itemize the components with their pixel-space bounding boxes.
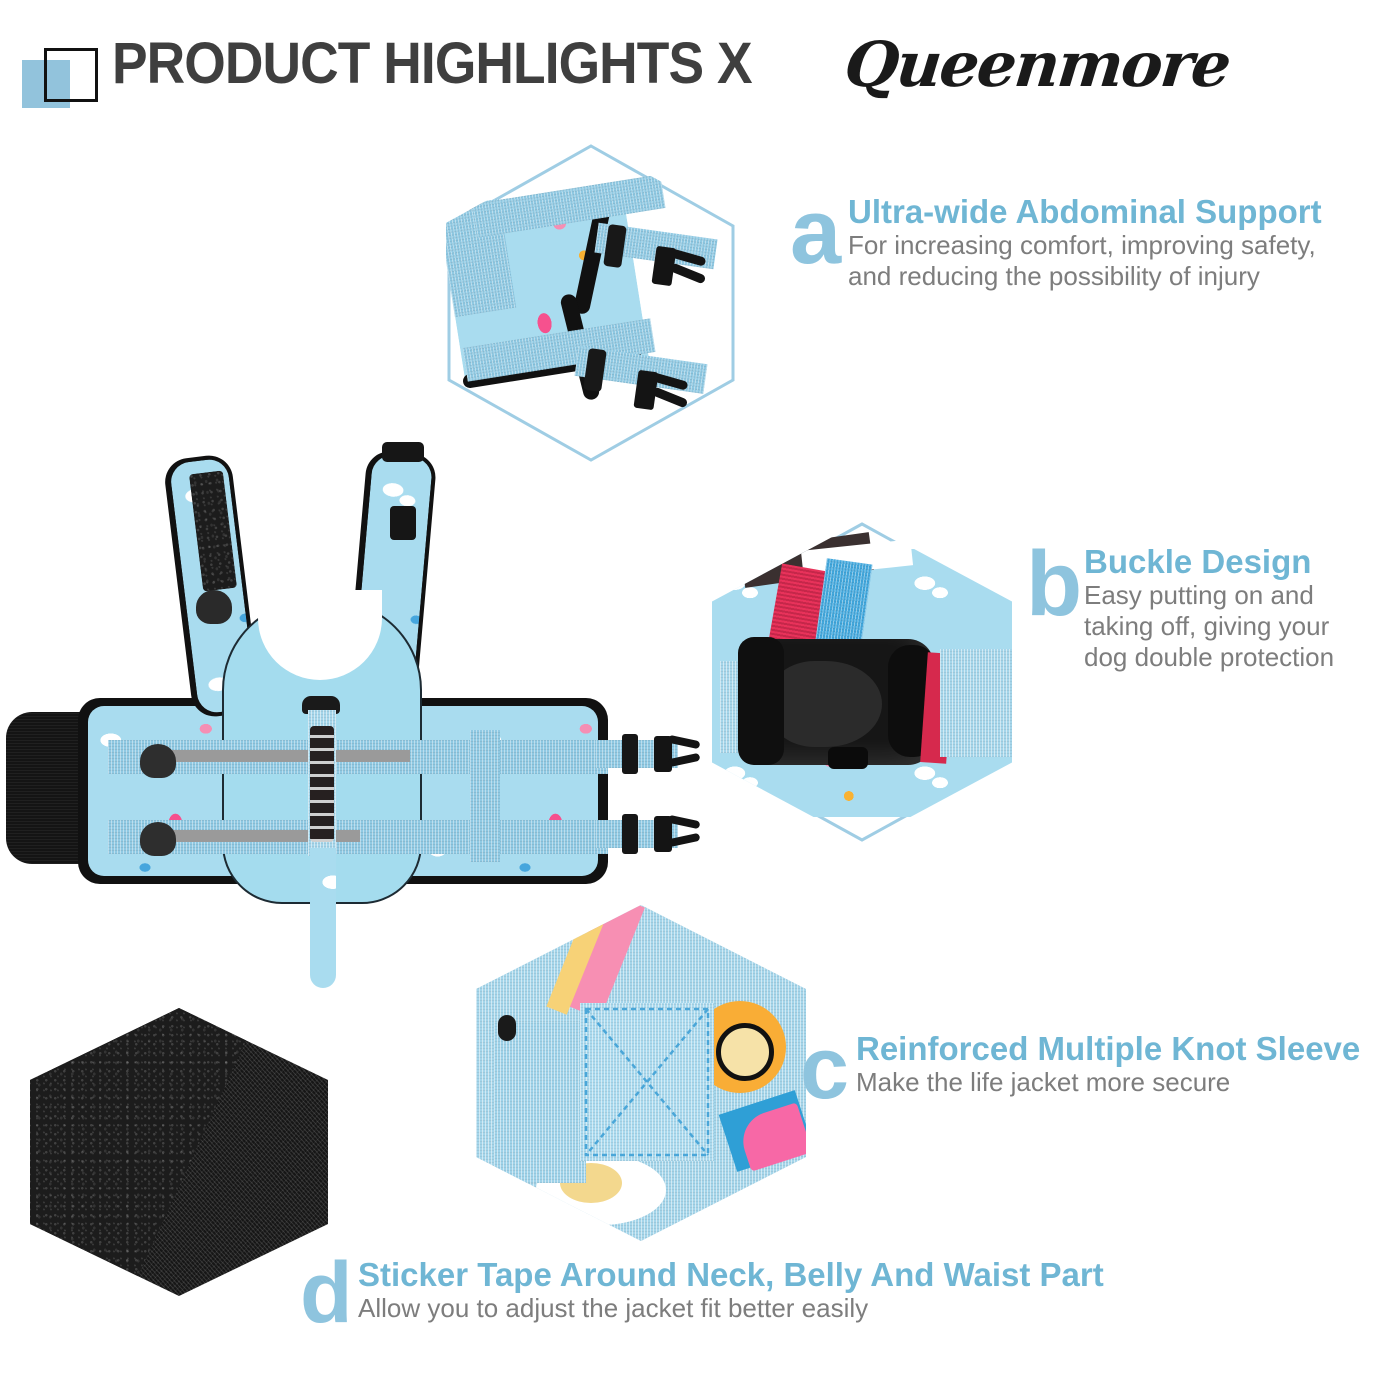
hex-b-photo (712, 521, 1012, 843)
hex-image-d (30, 1008, 328, 1296)
feature-letter-b: b (1026, 547, 1082, 622)
vertical-loop-right (470, 730, 500, 862)
feature-desc-a: For increasing comfort, improving safety… (848, 230, 1370, 292)
buckle-notch (828, 747, 868, 769)
hanging-tag (310, 848, 336, 988)
feature-desc-b-line1: Easy putting on and (1084, 580, 1366, 611)
right-adjuster-lower (622, 814, 638, 854)
feature-desc-d-line1: Allow you to adjust the jacket fit bette… (358, 1293, 1260, 1324)
feature-title-c: Reinforced Multiple Knot Sleeve (856, 1032, 1400, 1067)
buckle-left-arm (738, 637, 784, 765)
side-clip-upper-left (140, 744, 176, 778)
brand-name: Queenmore (841, 28, 1233, 101)
hex-c-photo (476, 905, 806, 1241)
hex-a-photo (446, 143, 736, 463)
feature-desc-b: Easy putting on and taking off, giving y… (1084, 580, 1366, 673)
hex-image-a (446, 143, 736, 463)
right-adjuster-upper (622, 734, 638, 774)
side-clip-lower-left (140, 822, 176, 856)
feature-letter-c: c (800, 1032, 849, 1104)
page-header: PRODUCT HIGHLIGHTS X Queenmore (0, 0, 1400, 120)
feature-letter-a: a (790, 195, 841, 270)
feature-block-b: b Buckle Design Easy putting on and taki… (1026, 545, 1366, 673)
feature-desc-a-line2: and reducing the possibility of injury (848, 261, 1370, 292)
top-buckle (382, 442, 424, 462)
webbing-right-tail (940, 649, 1012, 757)
handle-ladder-lock (310, 726, 334, 842)
top-slide-adjuster (390, 506, 416, 540)
buckle-release-tab (770, 661, 882, 747)
hex-d-photo (30, 1008, 328, 1296)
feature-desc-d: Allow you to adjust the jacket fit bette… (358, 1293, 1260, 1324)
logo-square-outline (44, 48, 98, 102)
feature-block-d: d Sticker Tape Around Neck, Belly And Wa… (300, 1258, 1260, 1324)
neck-clip-left (196, 590, 232, 624)
feature-block-a: a Ultra-wide Abdominal Support For incre… (790, 195, 1370, 292)
feature-title-d: Sticker Tape Around Neck, Belly And Wais… (358, 1258, 1260, 1293)
feature-block-c: c Reinforced Multiple Knot Sleeve Make t… (800, 1032, 1400, 1098)
page-title: PRODUCT HIGHLIGHTS X (112, 30, 752, 97)
clip-peek (498, 1015, 516, 1041)
feature-desc-c-line1: Make the life jacket more secure (856, 1067, 1400, 1098)
feature-title-b: Buckle Design (1084, 545, 1366, 580)
feature-desc-a-line1: For increasing comfort, improving safety… (848, 230, 1370, 261)
ring-center (716, 1023, 774, 1081)
sleeve-left-fold (494, 1023, 586, 1183)
square-logo-icon (22, 48, 84, 110)
hex-image-b (712, 521, 1012, 843)
feature-desc-c: Make the life jacket more secure (856, 1067, 1400, 1098)
feature-title-a: Ultra-wide Abdominal Support (848, 195, 1370, 230)
feature-desc-b-line3: dog double protection (1084, 642, 1366, 673)
feature-desc-b-line2: taking off, giving your (1084, 611, 1366, 642)
hex-image-c (476, 905, 806, 1241)
feature-letter-d: d (300, 1258, 353, 1329)
product-highlights-page: PRODUCT HIGHLIGHTS X Queenmore (0, 0, 1400, 1400)
reflective-strip-upper (160, 750, 410, 762)
knot-stitching-icon (580, 1003, 714, 1161)
